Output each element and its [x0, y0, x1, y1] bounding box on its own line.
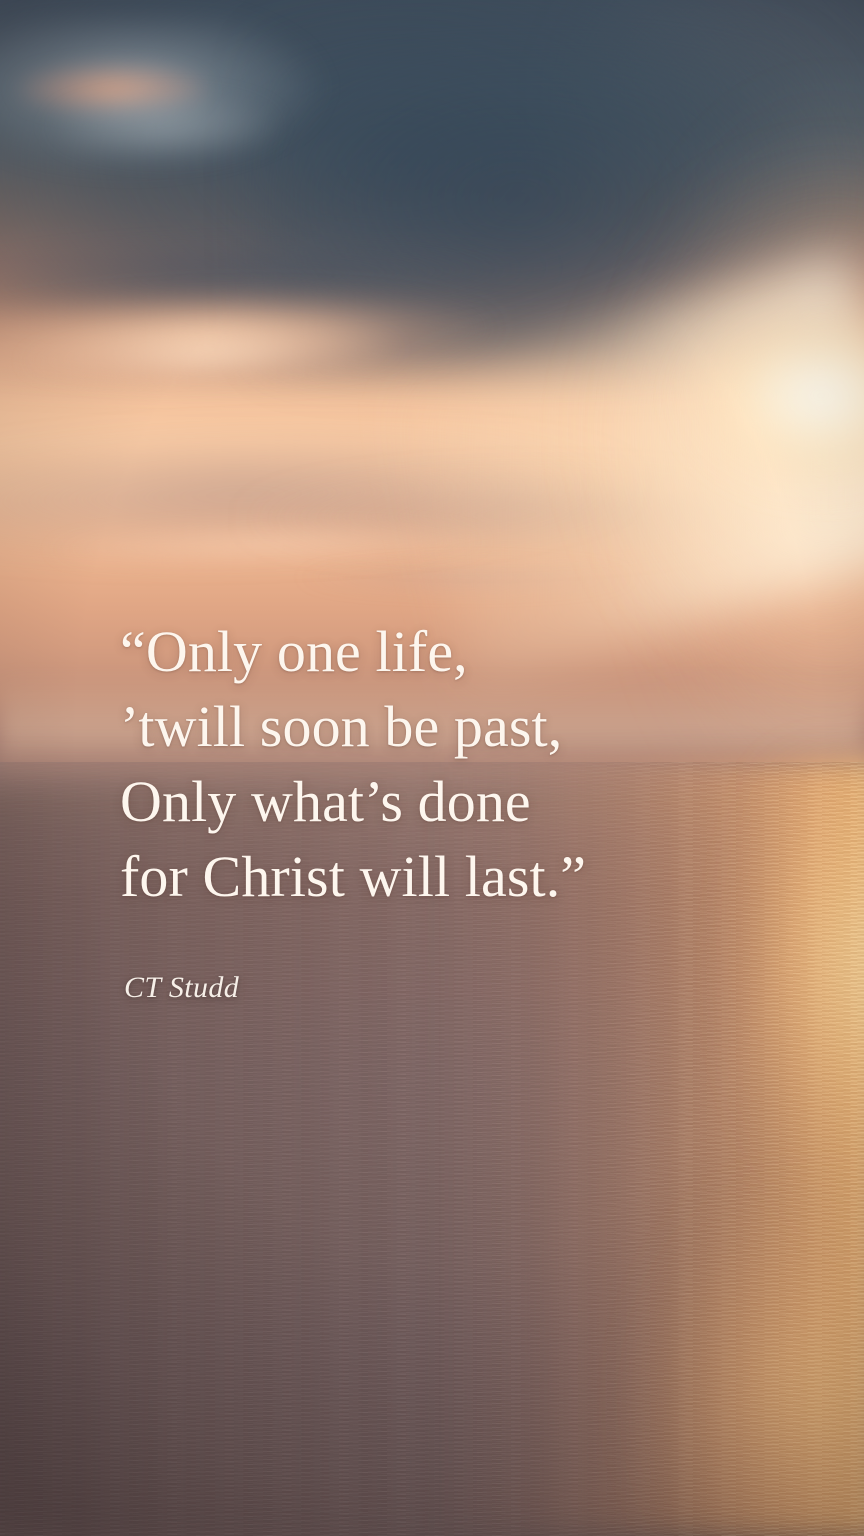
quote-line-2: ’twill soon be past, [120, 689, 820, 764]
quote-line-3: Only what’s done [120, 764, 820, 839]
quote-attribution: CT Studd [124, 968, 239, 1008]
sun-glow-core [674, 292, 864, 499]
quote-text-block: “Only one life, ’twill soon be past, Onl… [120, 614, 820, 914]
quote-line-4: for Christ will last.” [120, 839, 820, 914]
quote-poster: “Only one life, ’twill soon be past, Onl… [0, 0, 864, 1536]
quote-line-1: “Only one life, [120, 614, 820, 689]
cloud-wisp-top-left-secondary [52, 92, 277, 160]
